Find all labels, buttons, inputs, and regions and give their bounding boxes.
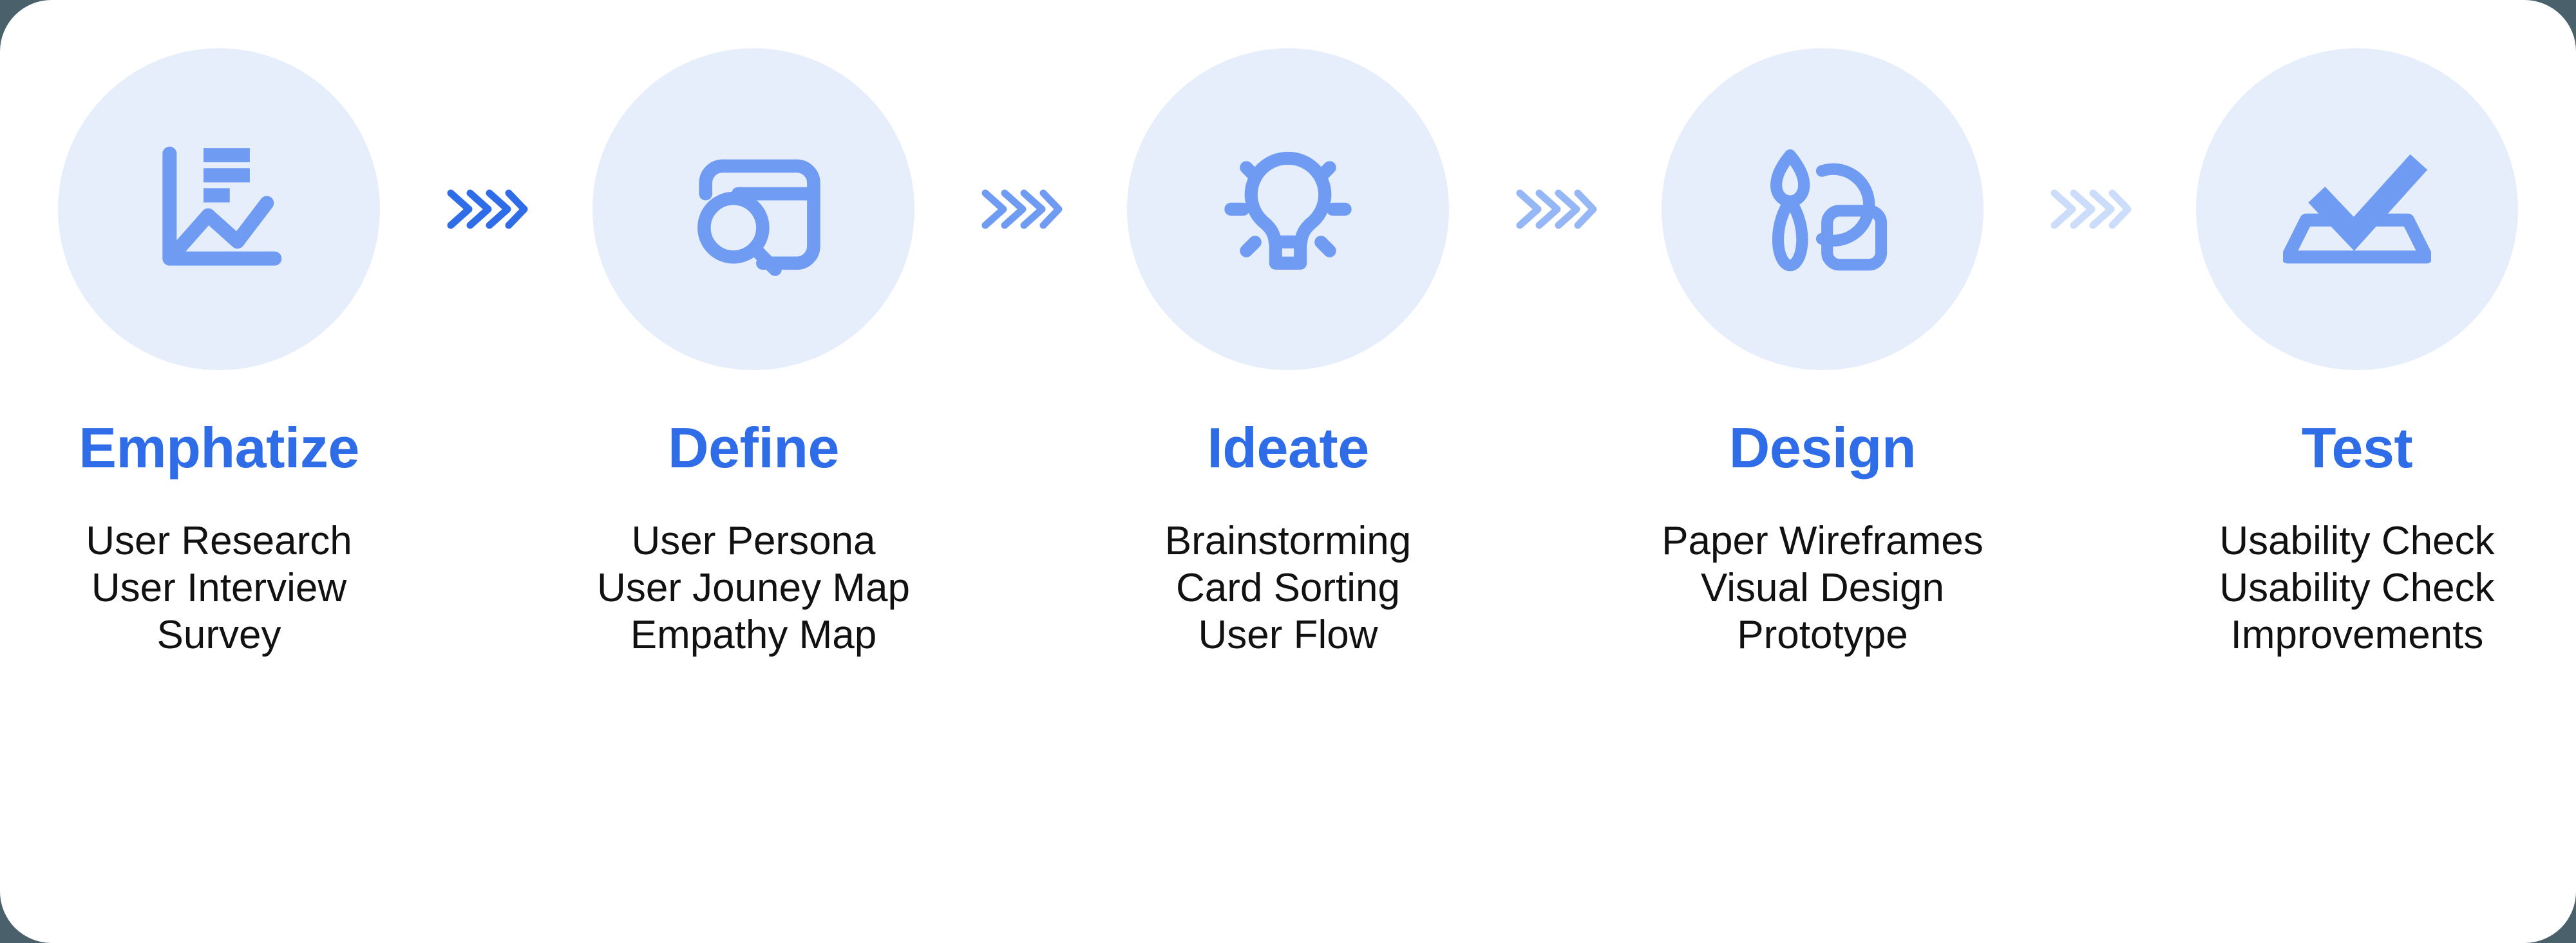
- icon-circle: [592, 48, 914, 370]
- stage-item-list: Paper Wireframes Visual Design Prototype: [1600, 518, 2045, 658]
- arrow-group-1: [441, 0, 531, 418]
- window-search-icon: [679, 135, 828, 283]
- list-item: User Research: [86, 518, 352, 565]
- stage-title: Test: [2302, 420, 2412, 476]
- list-item: User Interview: [91, 565, 346, 612]
- stage-title: Design: [1729, 420, 1916, 476]
- list-item: Usability Check: [2219, 565, 2494, 612]
- icon-circle: [1662, 48, 1984, 370]
- stage-title: Define: [668, 420, 839, 476]
- list-item: User Persona: [631, 518, 875, 565]
- list-item: Prototype: [1737, 612, 1908, 658]
- arrow-group-3: [1510, 0, 1600, 418]
- list-item: Brainstorming: [1165, 518, 1411, 565]
- stage-item-list: Brainstorming Card Sorting User Flow: [1066, 518, 1510, 658]
- stage-title: Emphatize: [79, 420, 359, 476]
- list-item: User Flow: [1198, 612, 1378, 658]
- arrow-group-4: [2045, 0, 2135, 418]
- stage-item-list: User Persona User Jouney Map Empathy Map: [531, 518, 976, 658]
- stage-title: Ideate: [1207, 420, 1368, 476]
- design-process-flow: Emphatize User Research User Interview S…: [0, 0, 2576, 943]
- list-item: Card Sorting: [1176, 565, 1400, 612]
- list-item: Usability Check: [2219, 518, 2494, 565]
- icon-circle-wrap: [58, 0, 380, 418]
- stage-item-list: Usability Check Usability Check Improvem…: [2135, 518, 2576, 658]
- checkmark-ballot-icon: [2283, 135, 2431, 283]
- stage-define[interactable]: Define User Persona User Jouney Map Empa…: [531, 0, 976, 658]
- icon-circle: [2196, 48, 2518, 370]
- icon-circle-wrap: [592, 0, 914, 418]
- icon-circle: [58, 48, 380, 370]
- stage-emphatize[interactable]: Emphatize User Research User Interview S…: [0, 0, 441, 658]
- lightbulb-icon: [1214, 135, 1362, 283]
- list-item: Empathy Map: [630, 612, 877, 658]
- list-item: Paper Wireframes: [1662, 518, 1984, 565]
- list-item: Visual Design: [1701, 565, 1944, 612]
- stage-ideate[interactable]: Ideate Brainstorming Card Sorting User F…: [1066, 0, 1510, 658]
- stage-item-list: User Research User Interview Survey: [0, 518, 441, 658]
- list-item: Survey: [157, 612, 281, 658]
- paintbrush-shapes-icon: [1748, 135, 1897, 283]
- stage-design[interactable]: Design Paper Wireframes Visual Design Pr…: [1600, 0, 2045, 658]
- diagram-card: Emphatize User Research User Interview S…: [0, 0, 2576, 943]
- list-item: User Jouney Map: [597, 565, 910, 612]
- list-item: Improvements: [2231, 612, 2484, 658]
- chart-report-icon: [145, 135, 293, 283]
- icon-circle-wrap: [2196, 0, 2518, 418]
- arrow-group-2: [976, 0, 1066, 418]
- icon-circle: [1127, 48, 1449, 370]
- icon-circle-wrap: [1127, 0, 1449, 418]
- icon-circle-wrap: [1662, 0, 1984, 418]
- stage-test[interactable]: Test Usability Check Usability Check Imp…: [2135, 0, 2576, 658]
